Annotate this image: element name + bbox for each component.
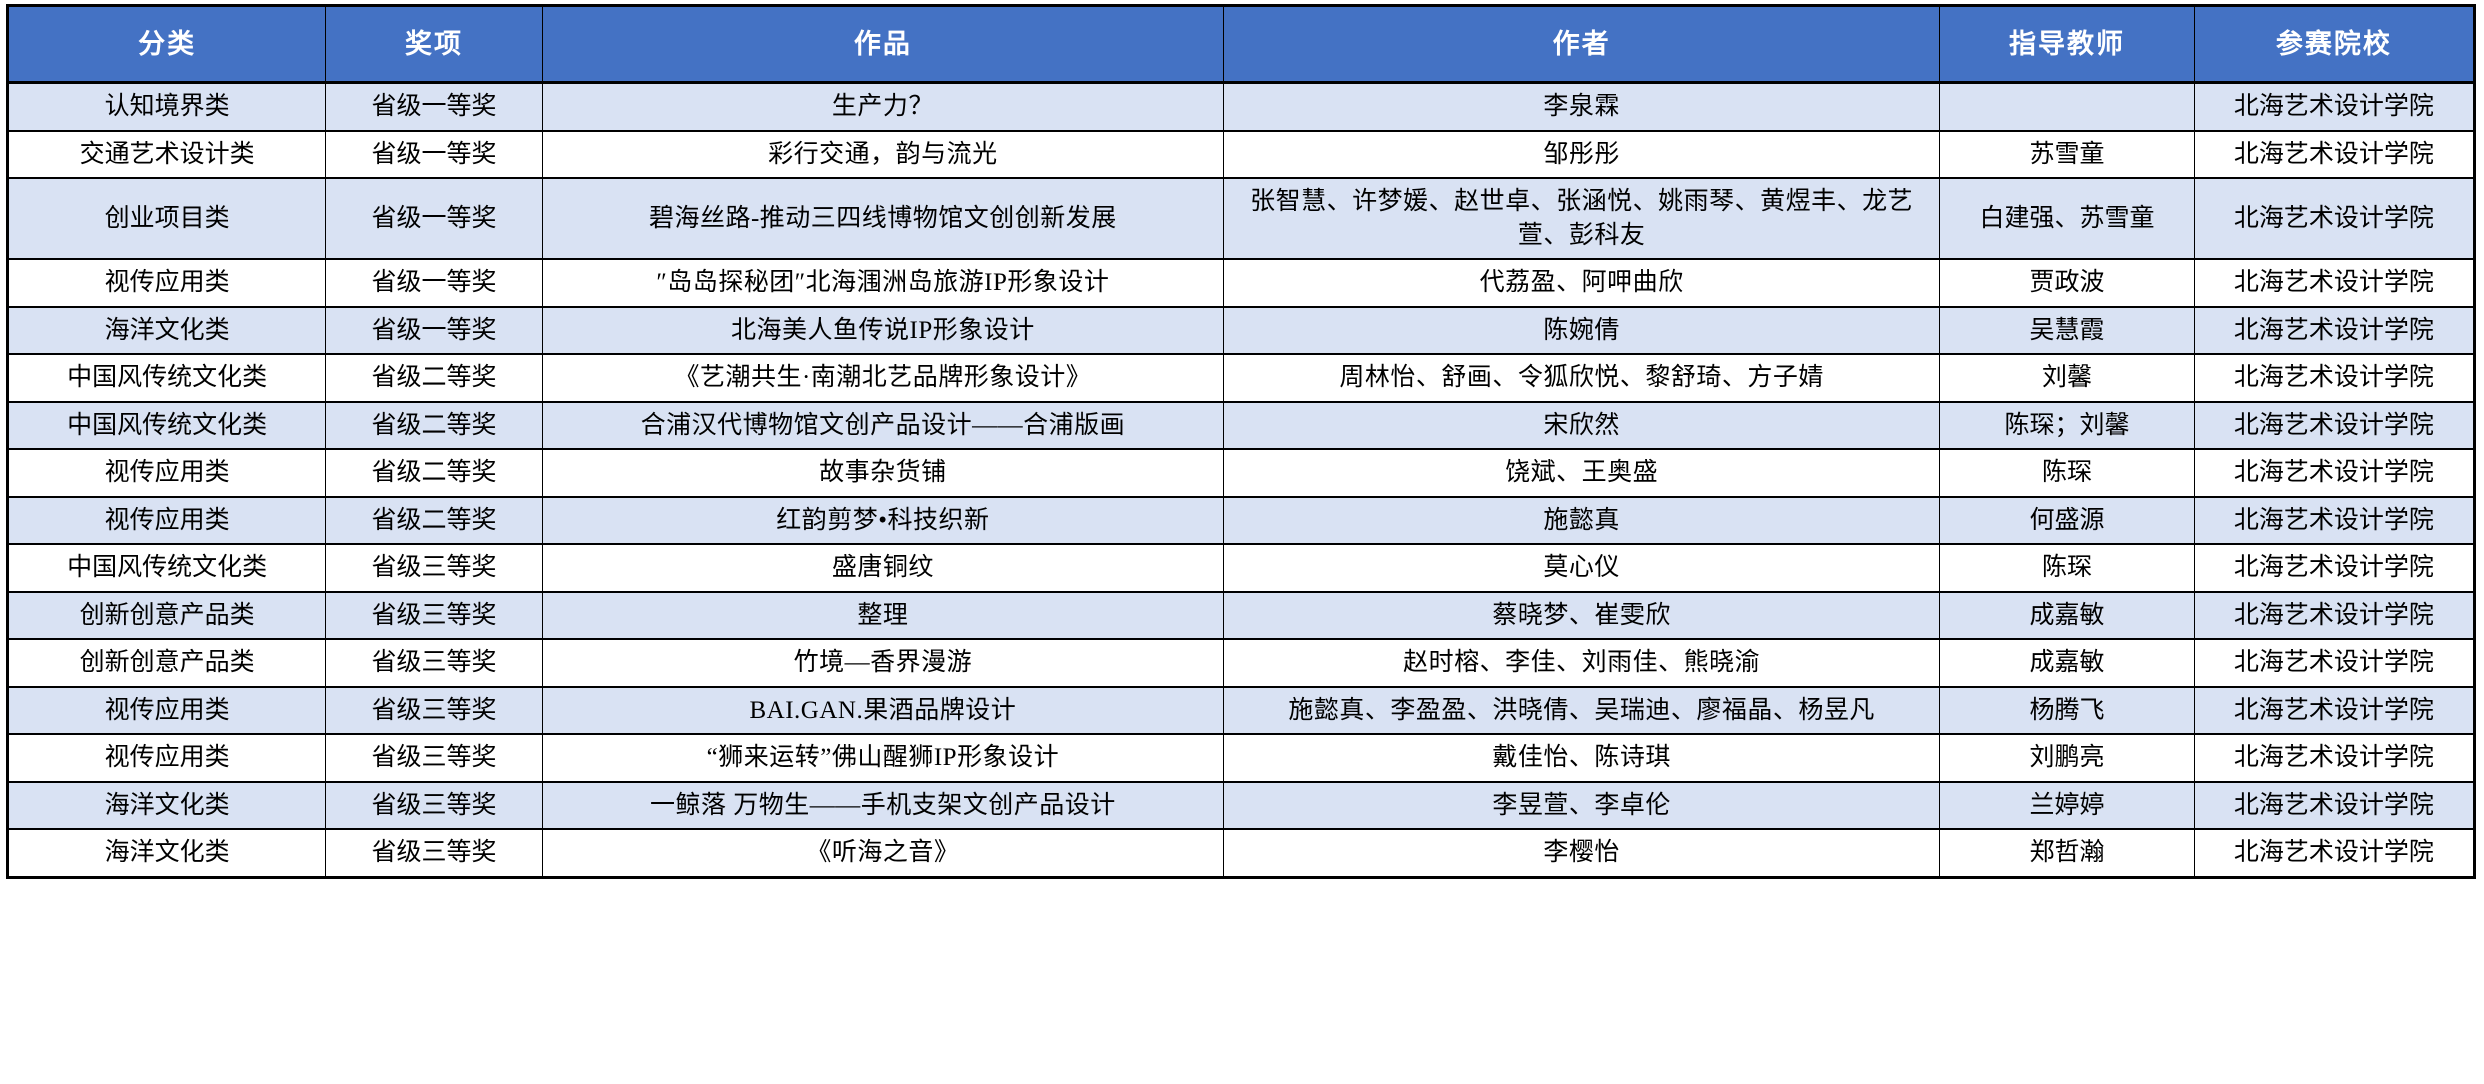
cell-school[interactable]: 北海艺术设计学院 [2194,354,2474,402]
cell-award[interactable]: 省级三等奖 [326,829,542,877]
cell-category[interactable]: 中国风传统文化类 [8,402,326,450]
cell-work[interactable]: 北海美人鱼传说IP形象设计 [542,307,1223,355]
cell-school[interactable]: 北海艺术设计学院 [2194,687,2474,735]
cell-work[interactable]: 红韵剪梦•科技织新 [542,497,1223,545]
table-row[interactable]: 海洋文化类省级三等奖一鲸落 万物生——手机支架文创产品设计李昱萱、李卓伦兰婷婷北… [8,782,2475,830]
cell-category[interactable]: 创业项目类 [8,178,326,259]
table-row[interactable]: 视传应用类省级二等奖红韵剪梦•科技织新施懿真何盛源北海艺术设计学院 [8,497,2475,545]
cell-award[interactable]: 省级三等奖 [326,639,542,687]
cell-authors[interactable]: 莫心仪 [1223,544,1939,592]
cell-work[interactable]: “狮来运转”佛山醒狮IP形象设计 [542,734,1223,782]
column-header-category[interactable]: 分类 [8,6,326,83]
cell-category[interactable]: 视传应用类 [8,734,326,782]
cell-school[interactable]: 北海艺术设计学院 [2194,734,2474,782]
cell-award[interactable]: 省级三等奖 [326,687,542,735]
cell-school[interactable]: 北海艺术设计学院 [2194,178,2474,259]
cell-school[interactable]: 北海艺术设计学院 [2194,131,2474,179]
cell-teacher[interactable]: 杨腾飞 [1940,687,2195,735]
cell-award[interactable]: 省级一等奖 [326,131,542,179]
table-row[interactable]: 视传应用类省级一等奖″岛岛探秘团″北海涠洲岛旅游IP形象设计代荔盈、阿呷曲欣贾政… [8,259,2475,307]
cell-authors[interactable]: 李樱怡 [1223,829,1939,877]
table-row[interactable]: 认知境界类省级一等奖生产力？李泉霖北海艺术设计学院 [8,83,2475,131]
cell-work[interactable]: 生产力？ [542,83,1223,131]
column-header-authors[interactable]: 作者 [1223,6,1939,83]
cell-work[interactable]: 整理 [542,592,1223,640]
cell-work[interactable]: 彩行交通，韵与流光 [542,131,1223,179]
cell-award[interactable]: 省级二等奖 [326,497,542,545]
cell-award[interactable]: 省级一等奖 [326,307,542,355]
cell-category[interactable]: 海洋文化类 [8,307,326,355]
cell-teacher[interactable]: 贾政波 [1940,259,2195,307]
cell-authors[interactable]: 蔡晓梦、崔雯欣 [1223,592,1939,640]
cell-teacher[interactable]: 刘馨 [1940,354,2195,402]
cell-category[interactable]: 创新创意产品类 [8,592,326,640]
cell-teacher[interactable]: 陈琛；刘馨 [1940,402,2195,450]
cell-work[interactable]: 《听海之音》 [542,829,1223,877]
cell-work[interactable]: 竹境—香界漫游 [542,639,1223,687]
table-header-row: 分类 奖项 作品 作者 指导教师 参赛院校 [8,6,2475,83]
cell-teacher[interactable]: 成嘉敏 [1940,639,2195,687]
cell-teacher[interactable]: 吴慧霞 [1940,307,2195,355]
table-row[interactable]: 视传应用类省级二等奖故事杂货铺饶斌、王奥盛陈琛北海艺术设计学院 [8,449,2475,497]
cell-teacher[interactable]: 郑哲瀚 [1940,829,2195,877]
cell-award[interactable]: 省级三等奖 [326,782,542,830]
table-row[interactable]: 视传应用类省级三等奖“狮来运转”佛山醒狮IP形象设计戴佳怡、陈诗琪刘鹏亮北海艺术… [8,734,2475,782]
cell-authors[interactable]: 戴佳怡、陈诗琪 [1223,734,1939,782]
table-row[interactable]: 视传应用类省级三等奖BAI.GAN.果酒品牌设计施懿真、李盈盈、洪晓倩、吴瑞迪、… [8,687,2475,735]
cell-award[interactable]: 省级一等奖 [326,259,542,307]
table-row[interactable]: 创新创意产品类省级三等奖竹境—香界漫游赵时榕、李佳、刘雨佳、熊晓渝成嘉敏北海艺术… [8,639,2475,687]
column-header-work[interactable]: 作品 [542,6,1223,83]
cell-category[interactable]: 中国风传统文化类 [8,544,326,592]
award-results-table: 分类 奖项 作品 作者 指导教师 参赛院校 认知境界类省级一等奖生产力？李泉霖北… [6,4,2476,879]
column-header-teacher[interactable]: 指导教师 [1940,6,2195,83]
cell-school[interactable]: 北海艺术设计学院 [2194,497,2474,545]
table-row[interactable]: 海洋文化类省级三等奖《听海之音》李樱怡郑哲瀚北海艺术设计学院 [8,829,2475,877]
cell-school[interactable]: 北海艺术设计学院 [2194,83,2474,131]
cell-authors[interactable]: 陈婉倩 [1223,307,1939,355]
cell-category[interactable]: 创新创意产品类 [8,639,326,687]
cell-award[interactable]: 省级一等奖 [326,178,542,259]
cell-school[interactable]: 北海艺术设计学院 [2194,259,2474,307]
cell-school[interactable]: 北海艺术设计学院 [2194,544,2474,592]
cell-award[interactable]: 省级二等奖 [326,402,542,450]
cell-authors[interactable]: 张智慧、许梦媛、赵世卓、张涵悦、姚雨琴、黄煜丰、龙艺萱、彭科友 [1223,178,1939,259]
cell-teacher[interactable]: 刘鹏亮 [1940,734,2195,782]
cell-category[interactable]: 中国风传统文化类 [8,354,326,402]
cell-teacher[interactable] [1940,83,2195,131]
table-row[interactable]: 交通艺术设计类省级一等奖彩行交通，韵与流光邹彤彤苏雪童北海艺术设计学院 [8,131,2475,179]
cell-authors[interactable]: 代荔盈、阿呷曲欣 [1223,259,1939,307]
cell-teacher[interactable]: 兰婷婷 [1940,782,2195,830]
cell-school[interactable]: 北海艺术设计学院 [2194,829,2474,877]
cell-category[interactable]: 视传应用类 [8,497,326,545]
cell-authors[interactable]: 饶斌、王奥盛 [1223,449,1939,497]
cell-category[interactable]: 交通艺术设计类 [8,131,326,179]
cell-work[interactable]: BAI.GAN.果酒品牌设计 [542,687,1223,735]
cell-category[interactable]: 认知境界类 [8,83,326,131]
cell-award[interactable]: 省级三等奖 [326,734,542,782]
cell-school[interactable]: 北海艺术设计学院 [2194,449,2474,497]
cell-work[interactable]: 盛唐铜纹 [542,544,1223,592]
table-row[interactable]: 创新创意产品类省级三等奖整理蔡晓梦、崔雯欣成嘉敏北海艺术设计学院 [8,592,2475,640]
cell-category[interactable]: 海洋文化类 [8,782,326,830]
cell-category[interactable]: 视传应用类 [8,449,326,497]
column-header-award[interactable]: 奖项 [326,6,542,83]
table-header: 分类 奖项 作品 作者 指导教师 参赛院校 [8,6,2475,83]
cell-authors[interactable]: 李泉霖 [1223,83,1939,131]
cell-school[interactable]: 北海艺术设计学院 [2194,592,2474,640]
cell-award[interactable]: 省级一等奖 [326,83,542,131]
cell-award[interactable]: 省级三等奖 [326,544,542,592]
cell-work[interactable]: 《艺潮共生·南潮北艺品牌形象设计》 [542,354,1223,402]
cell-school[interactable]: 北海艺术设计学院 [2194,402,2474,450]
cell-work[interactable]: 合浦汉代博物馆文创产品设计——合浦版画 [542,402,1223,450]
table-row[interactable]: 中国风传统文化类省级二等奖《艺潮共生·南潮北艺品牌形象设计》周林怡、舒画、令狐欣… [8,354,2475,402]
spreadsheet-sheet: 分类 奖项 作品 作者 指导教师 参赛院校 认知境界类省级一等奖生产力？李泉霖北… [0,0,2484,1084]
cell-work[interactable]: ″岛岛探秘团″北海涠洲岛旅游IP形象设计 [542,259,1223,307]
cell-authors[interactable]: 施懿真 [1223,497,1939,545]
column-header-school[interactable]: 参赛院校 [2194,6,2474,83]
table-row[interactable]: 海洋文化类省级一等奖北海美人鱼传说IP形象设计陈婉倩吴慧霞北海艺术设计学院 [8,307,2475,355]
cell-authors[interactable]: 李昱萱、李卓伦 [1223,782,1939,830]
cell-category[interactable]: 海洋文化类 [8,829,326,877]
cell-work[interactable]: 碧海丝路-推动三四线博物馆文创创新发展 [542,178,1223,259]
table-body: 认知境界类省级一等奖生产力？李泉霖北海艺术设计学院交通艺术设计类省级一等奖彩行交… [8,83,2475,878]
table-row[interactable]: 创业项目类省级一等奖碧海丝路-推动三四线博物馆文创创新发展张智慧、许梦媛、赵世卓… [8,178,2475,259]
cell-award[interactable]: 省级二等奖 [326,354,542,402]
cell-school[interactable]: 北海艺术设计学院 [2194,639,2474,687]
cell-authors[interactable]: 周林怡、舒画、令狐欣悦、黎舒琦、方子婧 [1223,354,1939,402]
cell-teacher[interactable]: 成嘉敏 [1940,592,2195,640]
cell-teacher[interactable]: 陈琛 [1940,544,2195,592]
cell-work[interactable]: 一鲸落 万物生——手机支架文创产品设计 [542,782,1223,830]
cell-category[interactable]: 视传应用类 [8,687,326,735]
table-row[interactable]: 中国风传统文化类省级三等奖盛唐铜纹莫心仪陈琛北海艺术设计学院 [8,544,2475,592]
cell-teacher[interactable]: 何盛源 [1940,497,2195,545]
cell-teacher[interactable]: 白建强、苏雪童 [1940,178,2195,259]
cell-authors[interactable]: 施懿真、李盈盈、洪晓倩、吴瑞迪、廖福晶、杨昱凡 [1223,687,1939,735]
table-row[interactable]: 中国风传统文化类省级二等奖合浦汉代博物馆文创产品设计——合浦版画宋欣然陈琛；刘馨… [8,402,2475,450]
cell-work[interactable]: 故事杂货铺 [542,449,1223,497]
cell-school[interactable]: 北海艺术设计学院 [2194,307,2474,355]
cell-authors[interactable]: 宋欣然 [1223,402,1939,450]
cell-teacher[interactable]: 苏雪童 [1940,131,2195,179]
cell-award[interactable]: 省级二等奖 [326,449,542,497]
cell-teacher[interactable]: 陈琛 [1940,449,2195,497]
cell-school[interactable]: 北海艺术设计学院 [2194,782,2474,830]
cell-category[interactable]: 视传应用类 [8,259,326,307]
cell-authors[interactable]: 邹彤彤 [1223,131,1939,179]
cell-award[interactable]: 省级三等奖 [326,592,542,640]
cell-authors[interactable]: 赵时榕、李佳、刘雨佳、熊晓渝 [1223,639,1939,687]
